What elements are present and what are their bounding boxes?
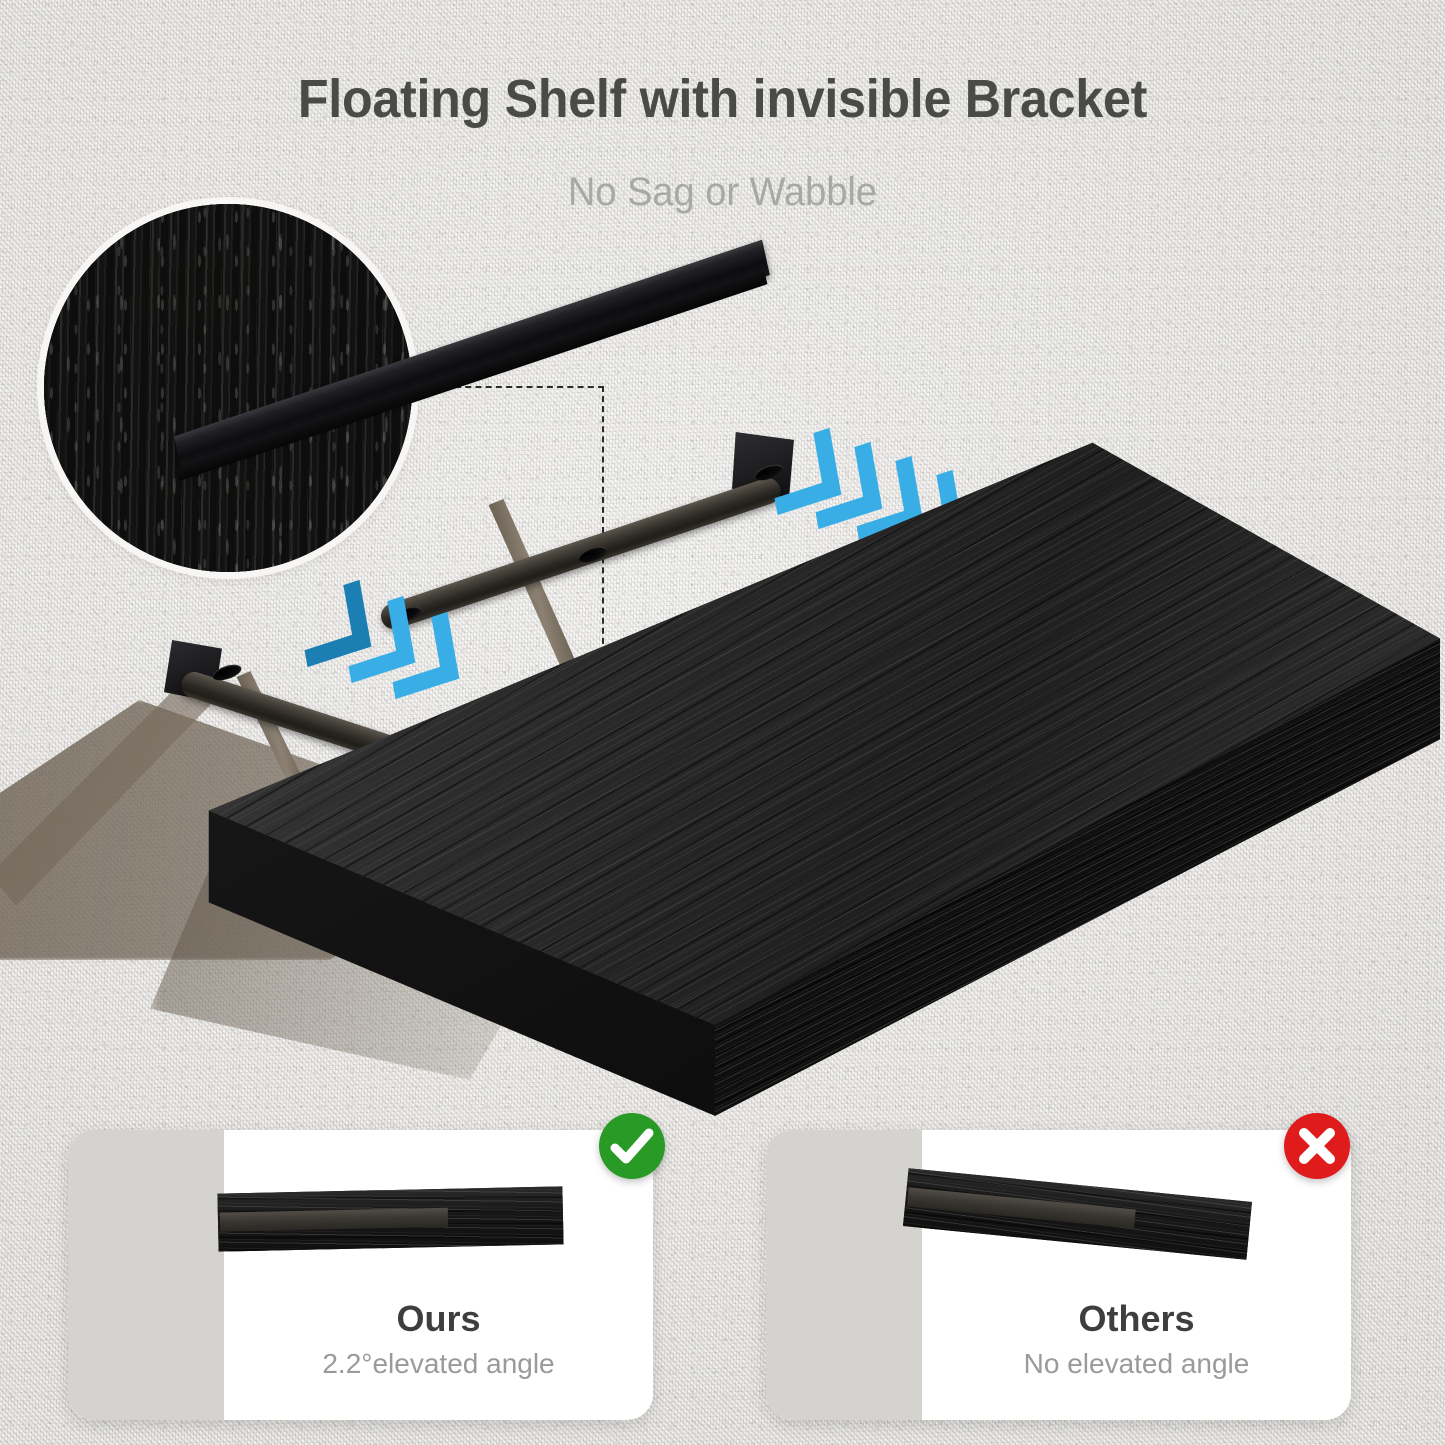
card-sublabel: No elevated angle	[922, 1348, 1351, 1380]
comparison-card-ours: Ours 2.2°elevated angle	[68, 1130, 653, 1420]
infographic-canvas: Floating Shelf with invisible Bracket No…	[0, 0, 1445, 1445]
card-label: Others	[922, 1298, 1351, 1340]
page-title: Floating Shelf with invisible Bracket	[51, 68, 1395, 130]
cross-badge-icon	[1284, 1113, 1350, 1179]
card-wall-block	[766, 1130, 922, 1420]
comparison-card-others: Others No elevated angle	[766, 1130, 1351, 1420]
card-label: Ours	[224, 1298, 653, 1340]
card-sublabel: 2.2°elevated angle	[224, 1348, 653, 1380]
floating-shelf-board	[190, 440, 1440, 1120]
mini-shelf-ours	[217, 1186, 563, 1251]
card-wall-block	[68, 1130, 224, 1420]
check-badge-icon	[599, 1113, 665, 1179]
